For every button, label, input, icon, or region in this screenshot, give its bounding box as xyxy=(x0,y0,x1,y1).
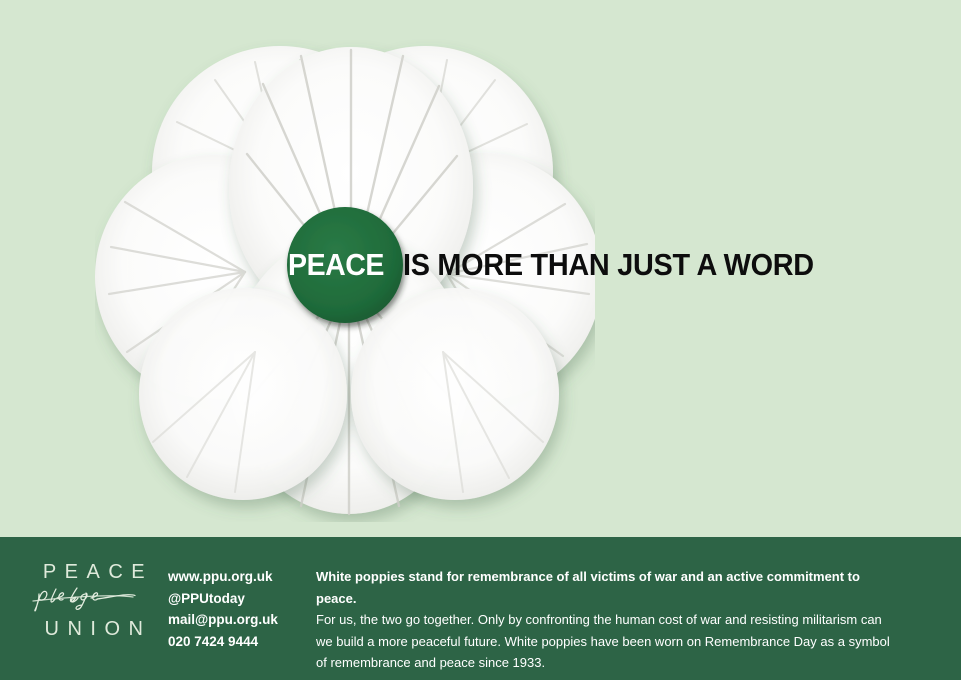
contact-details: www.ppu.org.uk @PPUtoday mail@ppu.org.uk… xyxy=(168,566,278,652)
contact-phone[interactable]: 020 7424 9444 xyxy=(168,631,278,653)
poster: PEACE IS MORE THAN JUST A WORD PEACE xyxy=(0,0,961,680)
body-copy-lead: White poppies stand for remembrance of a… xyxy=(316,566,896,609)
hero-section: PEACE IS MORE THAN JUST A WORD xyxy=(0,0,961,537)
contact-social-handle[interactable]: @PPUtoday xyxy=(168,588,278,610)
footer-body-copy: White poppies stand for remembrance of a… xyxy=(316,566,896,674)
page-headline: PEACE IS MORE THAN JUST A WORD xyxy=(288,246,845,284)
contact-website[interactable]: www.ppu.org.uk xyxy=(168,566,278,588)
body-copy-rest: For us, the two go together. Only by con… xyxy=(316,609,896,674)
logo-script-pledge xyxy=(33,586,155,616)
logo-line-union: UNION xyxy=(33,619,155,639)
headline-word-rest: IS MORE THAN JUST A WORD xyxy=(403,247,814,283)
ppu-logo[interactable]: PEACE xyxy=(33,562,155,639)
headline-word-peace: PEACE xyxy=(288,247,384,283)
contact-email[interactable]: mail@ppu.org.uk xyxy=(168,609,278,631)
logo-line-peace: PEACE xyxy=(33,562,155,582)
